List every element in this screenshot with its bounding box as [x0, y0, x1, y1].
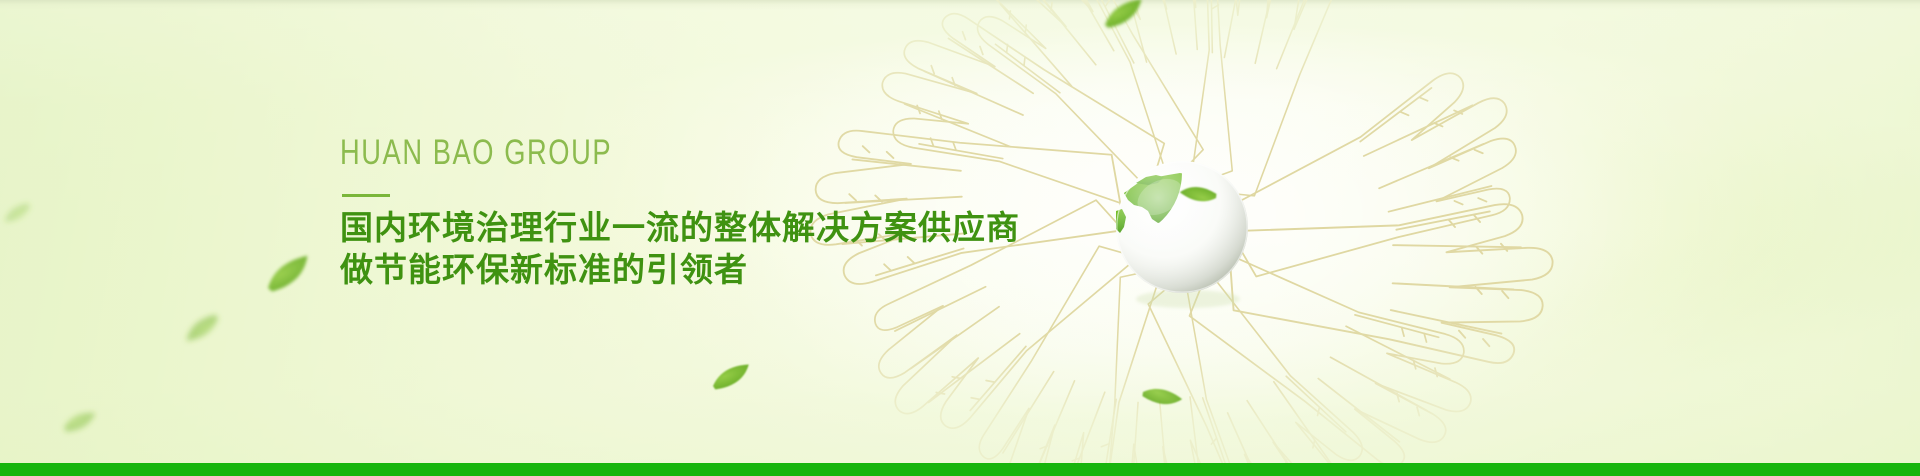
- banner-headline-line1: 国内环境治理行业一流的整体解决方案供应商: [340, 208, 1020, 247]
- banner-text-block: HUAN BAO GROUP 国内环境治理行业一流的整体解决方案供应商 做节能环…: [340, 133, 1020, 291]
- banner-headline: 国内环境治理行业一流的整体解决方案供应商 做节能环保新标准的引领者: [340, 207, 1020, 291]
- banner-divider-rule: [342, 194, 390, 197]
- bottom-accent-bar: [0, 463, 1920, 476]
- banner-eyebrow: HUAN BAO GROUP: [340, 133, 870, 173]
- hero-banner: HUAN BAO GROUP 国内环境治理行业一流的整体解决方案供应商 做节能环…: [0, 0, 1920, 476]
- banner-headline-line2: 做节能环保新标准的引领者: [340, 249, 1020, 291]
